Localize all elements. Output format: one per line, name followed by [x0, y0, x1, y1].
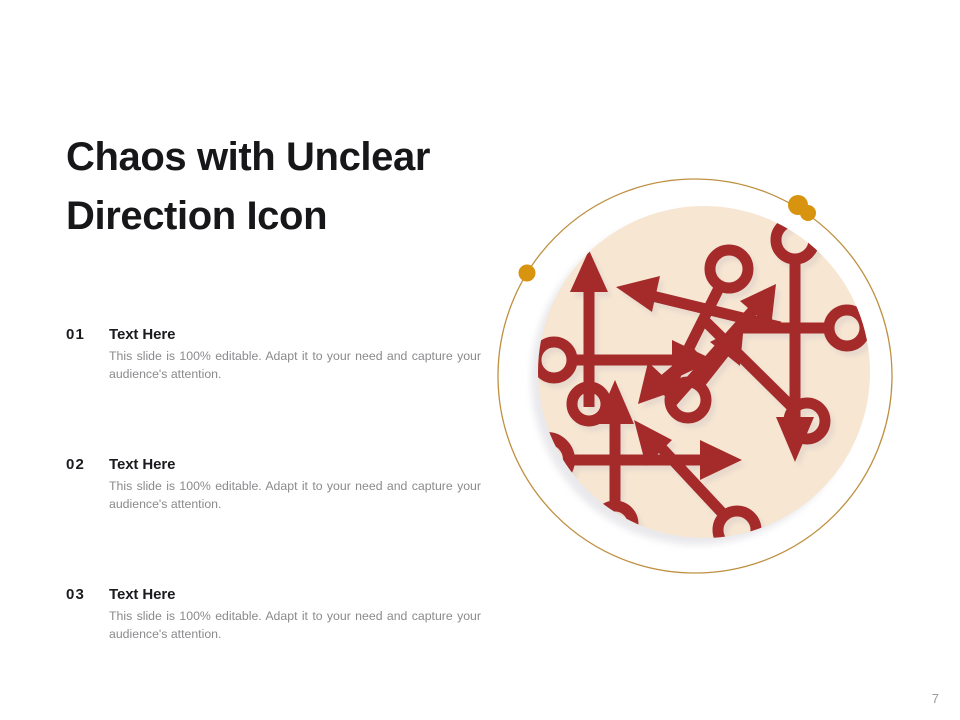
bullet-body: This slide is 100% editable. Adapt it to… — [109, 478, 481, 514]
page-title-line-2: Direction Icon — [66, 187, 496, 246]
bullet-number: 02 — [66, 456, 85, 473]
list-item[interactable]: 02 Text Here This slide is 100% editable… — [66, 456, 486, 586]
list-item[interactable]: 03 Text Here This slide is 100% editable… — [66, 586, 486, 716]
bullet-heading: Text Here — [109, 586, 175, 603]
bullet-heading: Text Here — [109, 326, 175, 343]
bullet-body: This slide is 100% editable. Adapt it to… — [109, 608, 481, 644]
bullet-list: 01 Text Here This slide is 100% editable… — [66, 326, 486, 716]
bullet-number: 01 — [66, 326, 85, 343]
chaos-unclear-direction-icon — [492, 172, 904, 584]
page-number: 7 — [932, 691, 939, 706]
page-title-line-1: Chaos with Unclear — [66, 128, 496, 187]
accent-dot-left — [519, 265, 536, 282]
bullet-body: This slide is 100% editable. Adapt it to… — [109, 348, 481, 384]
bullet-heading: Text Here — [109, 456, 175, 473]
slide-canvas: Chaos with Unclear Direction Icon 01 Tex… — [0, 0, 960, 720]
bullet-number: 03 — [66, 586, 85, 603]
page-title: Chaos with Unclear Direction Icon — [66, 128, 496, 246]
list-item[interactable]: 01 Text Here This slide is 100% editable… — [66, 326, 486, 456]
